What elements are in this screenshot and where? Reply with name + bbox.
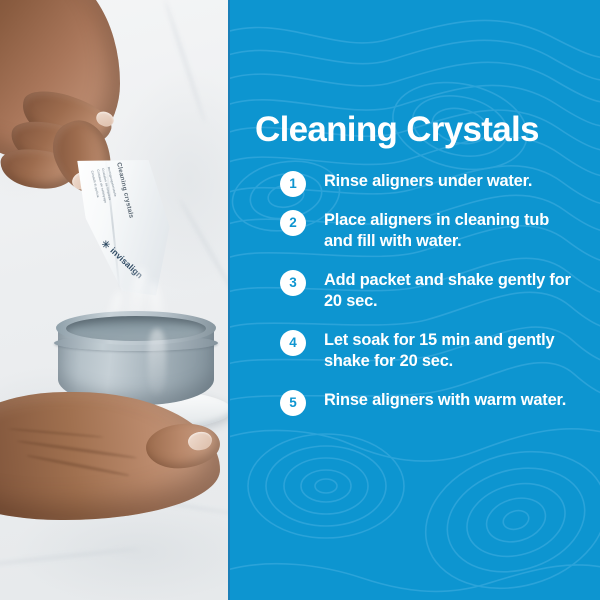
- step-item: 5 Rinse aligners with warm water.: [324, 390, 582, 411]
- step-item: 2 Place aligners in cleaning tub and fil…: [324, 210, 582, 252]
- step-item: 3 Add packet and shake gently for 20 sec…: [324, 270, 582, 312]
- instructions-panel: Cleaning Crystals 1 Rinse aligners under…: [230, 0, 600, 600]
- step-item: 4 Let soak for 15 min and gently shake f…: [324, 330, 582, 372]
- step-number-badge: 1: [280, 171, 306, 197]
- step-text: Rinse aligners under water.: [324, 171, 582, 192]
- step-number-badge: 4: [280, 330, 306, 356]
- step-item: 1 Rinse aligners under water.: [324, 171, 582, 192]
- step-number-badge: 2: [280, 210, 306, 236]
- tub-interior: [66, 316, 206, 341]
- step-number-badge: 5: [280, 390, 306, 416]
- step-number-badge: 3: [280, 270, 306, 296]
- product-photo-panel: Cleaning crystals Reinigungskristalle Cr…: [0, 0, 230, 600]
- instruction-card: Cleaning crystals Reinigungskristalle Cr…: [0, 0, 600, 600]
- page-title: Cleaning Crystals: [255, 112, 582, 149]
- step-text: Rinse aligners with warm water.: [324, 390, 582, 411]
- tub-highlight: [148, 329, 166, 395]
- steps-list: 1 Rinse aligners under water. 2 Place al…: [255, 171, 582, 411]
- step-text: Let soak for 15 min and gently shake for…: [324, 330, 582, 372]
- step-text: Place aligners in cleaning tub and fill …: [324, 210, 582, 252]
- instructions-content: Cleaning Crystals 1 Rinse aligners under…: [230, 0, 600, 411]
- step-text: Add packet and shake gently for 20 sec.: [324, 270, 582, 312]
